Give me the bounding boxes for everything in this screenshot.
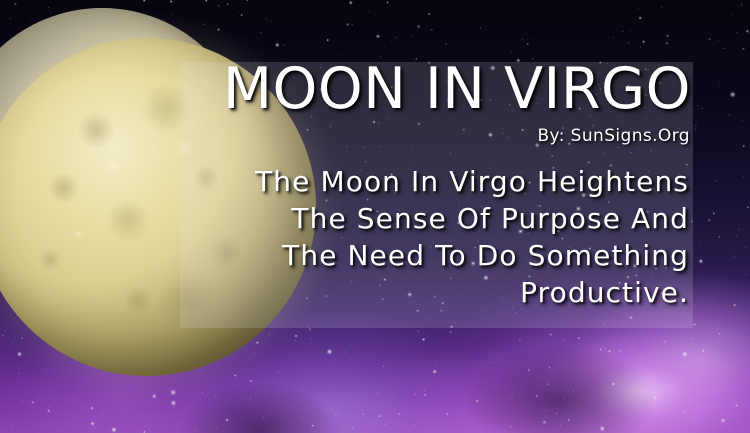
page-title: MOON IN VIRGO bbox=[180, 58, 693, 121]
tagline-line: The Moon In Virgo Heightens bbox=[180, 163, 689, 200]
tagline-line: Productive. bbox=[180, 274, 689, 311]
tagline-block: The Moon In Virgo Heightens The Sense Of… bbox=[180, 163, 693, 311]
moon-in-virgo-banner: MOON IN VIRGO By: SunSigns.Org The Moon … bbox=[0, 0, 750, 433]
tagline-line: The Need To Do Something bbox=[180, 237, 689, 274]
tagline-line: The Sense Of Purpose And bbox=[180, 200, 689, 237]
byline-credit: By: SunSigns.Org bbox=[180, 125, 693, 147]
